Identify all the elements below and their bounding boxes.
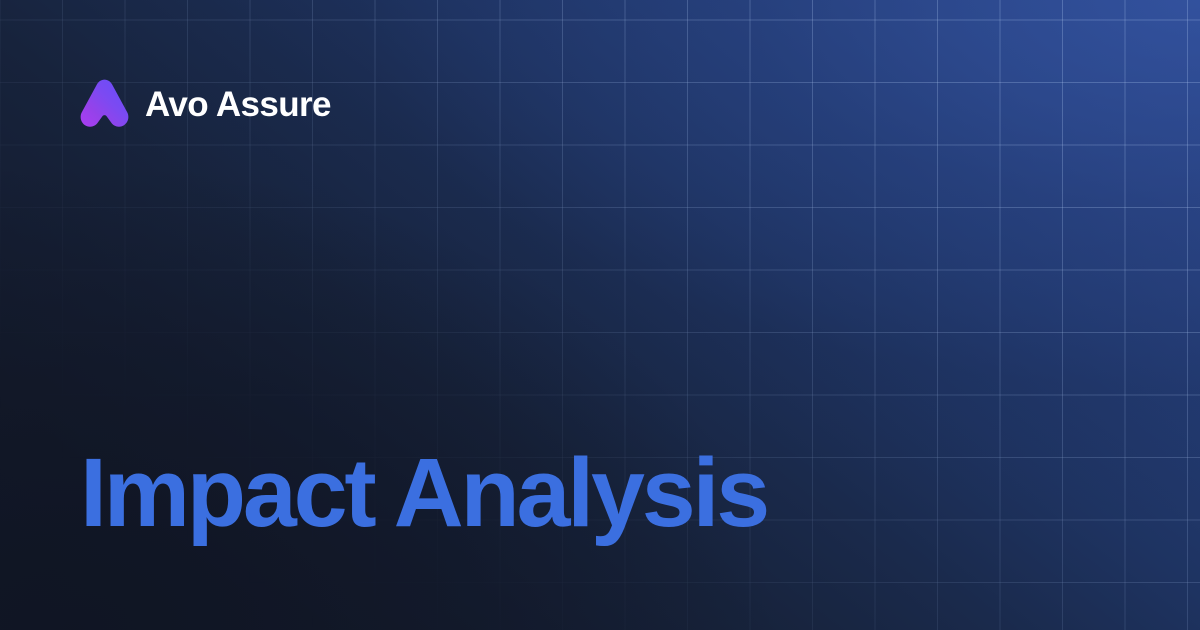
og-card: Avo Assure Impact Analysis	[0, 0, 1200, 630]
page-title: Impact Analysis	[80, 444, 767, 541]
brand-lockup: Avo Assure	[80, 79, 331, 130]
avo-arrow-logo-icon	[80, 79, 129, 130]
brand-name: Avo Assure	[145, 87, 331, 122]
